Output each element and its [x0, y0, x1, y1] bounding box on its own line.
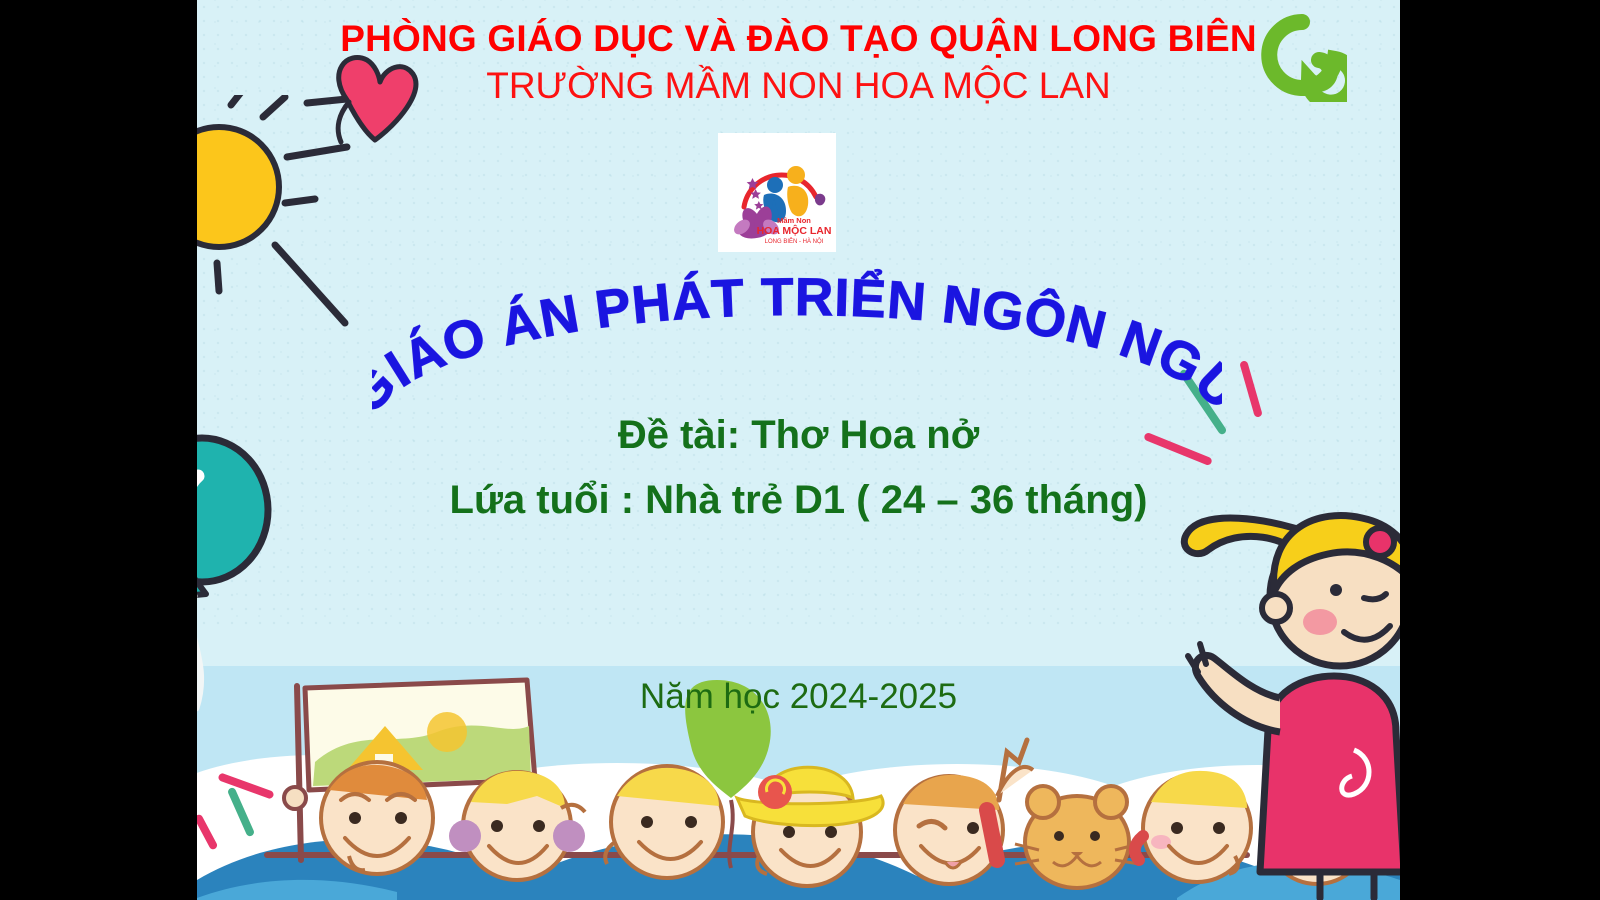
child-with-yellow-hat [737, 767, 883, 886]
cat-face [1015, 786, 1139, 888]
presentation-slide: PHÒNG GIÁO DỤC VÀ ĐÀO TẠO QUẬN LONG BIÊN… [197, 0, 1400, 900]
slide-stage: PHÒNG GIÁO DỤC VÀ ĐÀO TẠO QUẬN LONG BIÊN… [0, 0, 1600, 900]
lesson-topic-line: Đề tài: Thơ Hoa nở [197, 413, 1400, 458]
logo-text-sub: LONG BIÊN - HÀ NỘI [765, 237, 824, 245]
confetti-pink [1239, 360, 1263, 418]
school-title: TRƯỜNG MẦM NON HOA MỘC LAN [197, 63, 1400, 109]
department-title: PHÒNG GIÁO DỤC VÀ ĐÀO TẠO QUẬN LONG BIÊN [197, 18, 1400, 59]
header-block: PHÒNG GIÁO DỤC VÀ ĐÀO TẠO QUẬN LONG BIÊN… [197, 18, 1400, 110]
school-logo: Mầm Non HOA MỘC LAN LONG BIÊN - HÀ NỘI [718, 133, 836, 252]
child-face [449, 771, 585, 880]
child-face-winking [895, 740, 1033, 884]
child-face [605, 766, 723, 878]
logo-text-small: Mầm Non [777, 216, 811, 225]
wordart-text: GIÁO ÁN PHÁT TRIỂN NGÔN NGỮ [372, 268, 1222, 415]
logo-text-main: HOA MỘC LAN [757, 224, 832, 237]
school-year-label: Năm học 2024-2025 [197, 677, 1400, 717]
wordart-arch-title: GIÁO ÁN PHÁT TRIỂN NGÔN NGỮ [372, 255, 1222, 415]
age-group-line: Lứa tuổi : Nhà trẻ D1 ( 24 – 36 tháng) [197, 478, 1400, 523]
teal-balloon [197, 418, 312, 718]
child-face [321, 762, 433, 874]
